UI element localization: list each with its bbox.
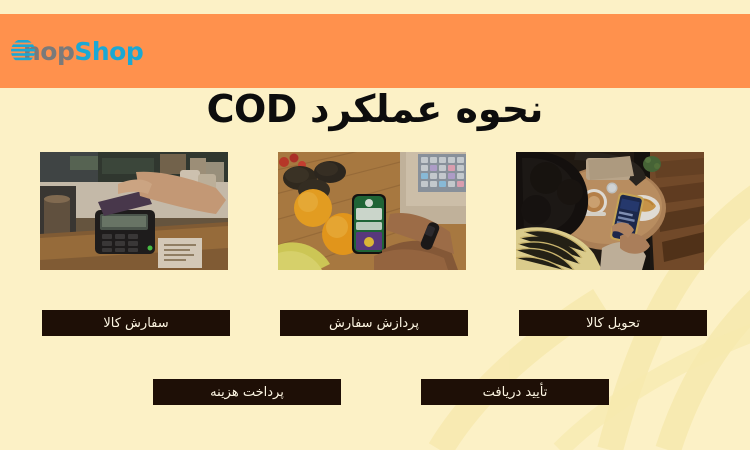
step-label-3[interactable]: تحویل کالا (519, 310, 707, 336)
top-strip (0, 0, 750, 14)
step-label-5-text: تأیید دریافت (483, 386, 548, 399)
site-header: nopShop (0, 14, 750, 88)
slide-root: nopShop نحوه عملکرد COD (0, 0, 750, 450)
logo-word-shop: Shop (74, 37, 143, 66)
pos-terminal-card-payment-photo (40, 152, 228, 270)
step-image-card-2 (278, 152, 466, 270)
step-label-5[interactable]: تأیید دریافت (421, 379, 609, 405)
step-label-1[interactable]: سفارش کالا (42, 310, 230, 336)
step-label-4[interactable]: پرداخت هزینه (153, 379, 341, 405)
step-label-2-text: پردازش سفارش (329, 317, 419, 330)
step-label-1-text: سفارش کالا (103, 317, 168, 330)
page-title: نحوه عملکرد COD (0, 88, 750, 132)
step-label-3-text: تحویل کالا (586, 317, 640, 330)
cafe-customer-phone-photo (516, 152, 704, 270)
step-image-card-1 (40, 152, 228, 270)
nop-circle-stripes-logo-mark-icon (10, 38, 36, 64)
step-image-card-3 (516, 152, 704, 270)
step-images-row (0, 152, 750, 272)
page-title-text: نحوه عملکرد COD (207, 88, 544, 132)
site-logo[interactable]: nopShop (10, 38, 143, 64)
step-label-4-text: پرداخت هزینه (210, 386, 284, 399)
step-label-2[interactable]: پردازش سفارش (280, 310, 468, 336)
grocery-smartphone-order-photo (278, 152, 466, 270)
logo-wordmark: nopShop (23, 39, 143, 64)
